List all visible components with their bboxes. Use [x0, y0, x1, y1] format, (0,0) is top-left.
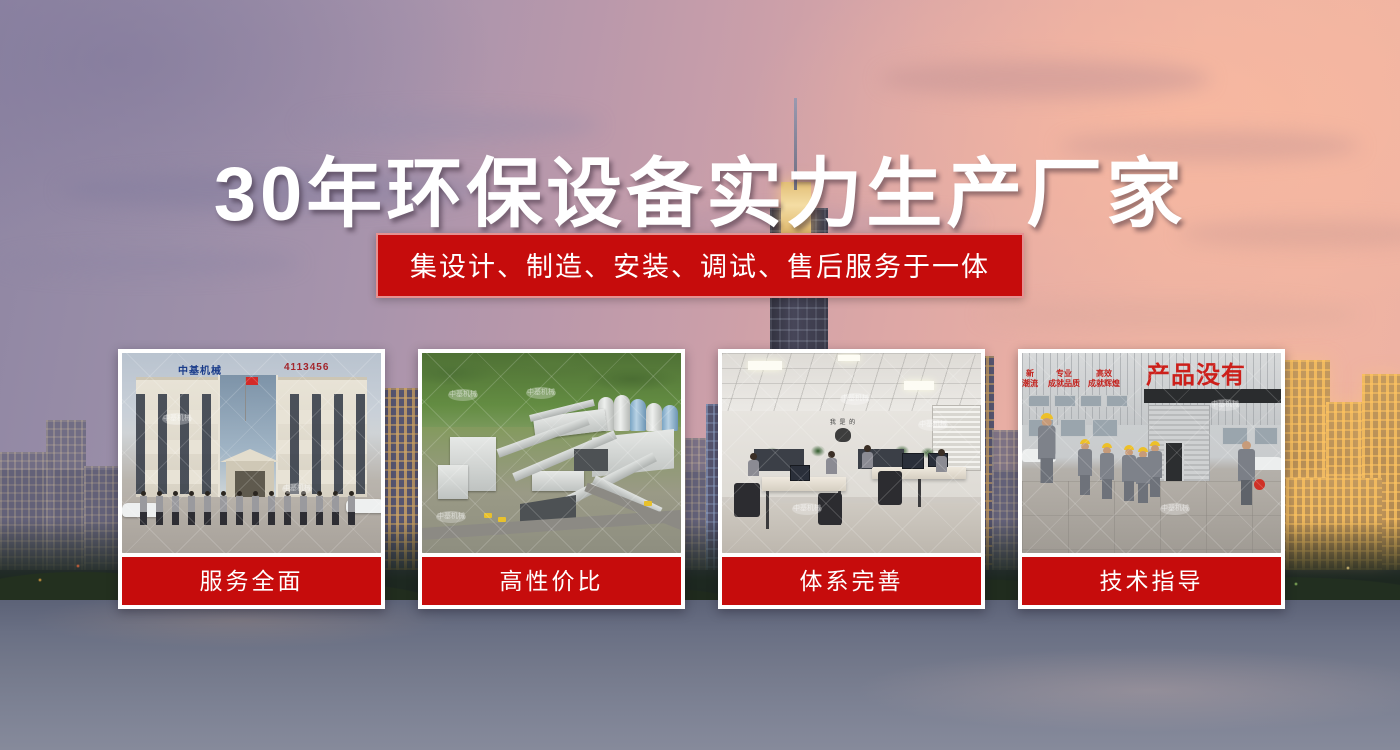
staff-row [140, 491, 364, 531]
watermark: 中基机械 [526, 387, 556, 399]
card-caption: 高性价比 [422, 557, 681, 605]
feature-card-list: 中基机械 4113456 中基机械 中基机械 [118, 349, 1276, 609]
watermark: 中基机械 [1210, 399, 1240, 411]
wall-slogan-small: 专业成就品质 [1048, 369, 1080, 389]
watermark: 中基机械 [792, 503, 822, 515]
watermark: 中基机械 [918, 419, 948, 431]
watermark: 中基机械 [1160, 503, 1190, 515]
company-sign-text: 中基机械 [178, 362, 222, 377]
wall-decal: 我 是 的 [826, 417, 860, 447]
workshop-training-photo: 产品没有 专业成就品质 高效成就辉煌 新潮流 [1022, 353, 1281, 553]
watermark: 中基机械 [162, 413, 192, 425]
cloud [880, 60, 1210, 98]
supervisor-figure [1238, 441, 1255, 505]
page-title: 30年环保设备实力生产厂家 [0, 132, 1400, 242]
watermark: 中基机械 [436, 511, 466, 523]
feature-card-guidance[interactable]: 产品没有 专业成就品质 高效成就辉煌 新潮流 [1018, 349, 1285, 609]
office-interior-photo: 我 是 的 [722, 353, 981, 553]
promotional-banner: 30年环保设备实力生产厂家 集设计、制造、安装、调试、售后服务于一体 中基机械 … [0, 0, 1400, 750]
subtitle-banner: 集设计、制造、安装、调试、售后服务于一体 [376, 233, 1024, 298]
card-caption: 服务全面 [122, 557, 381, 605]
industrial-plant-aerial-photo: 中基机械 中基机械 中基机械 [422, 353, 681, 553]
watermark: 中基机械 [448, 389, 478, 401]
card-caption: 技术指导 [1022, 557, 1281, 605]
feature-card-value[interactable]: 中基机械 中基机械 中基机械 高性价比 [418, 349, 685, 609]
card-caption: 体系完善 [722, 557, 981, 605]
subtitle-container: 集设计、制造、安装、调试、售后服务于一体 [0, 233, 1400, 298]
feature-card-system[interactable]: 我 是 的 [718, 349, 985, 609]
watermark: 中基机械 [840, 393, 870, 405]
red-helmet [1254, 479, 1265, 490]
watermark: 中基机械 [282, 483, 312, 495]
wall-slogan-large: 产品没有 [1146, 355, 1246, 390]
wall-slogan-small: 高效成就辉煌 [1088, 369, 1120, 389]
company-headquarters-photo: 中基机械 4113456 中基机械 中基机械 [122, 353, 381, 553]
feature-card-service[interactable]: 中基机械 4113456 中基机械 中基机械 [118, 349, 385, 609]
water-reflection [0, 600, 1400, 750]
company-phone-text: 4113456 [284, 362, 329, 373]
wall-slogan-small: 新潮流 [1022, 369, 1038, 389]
